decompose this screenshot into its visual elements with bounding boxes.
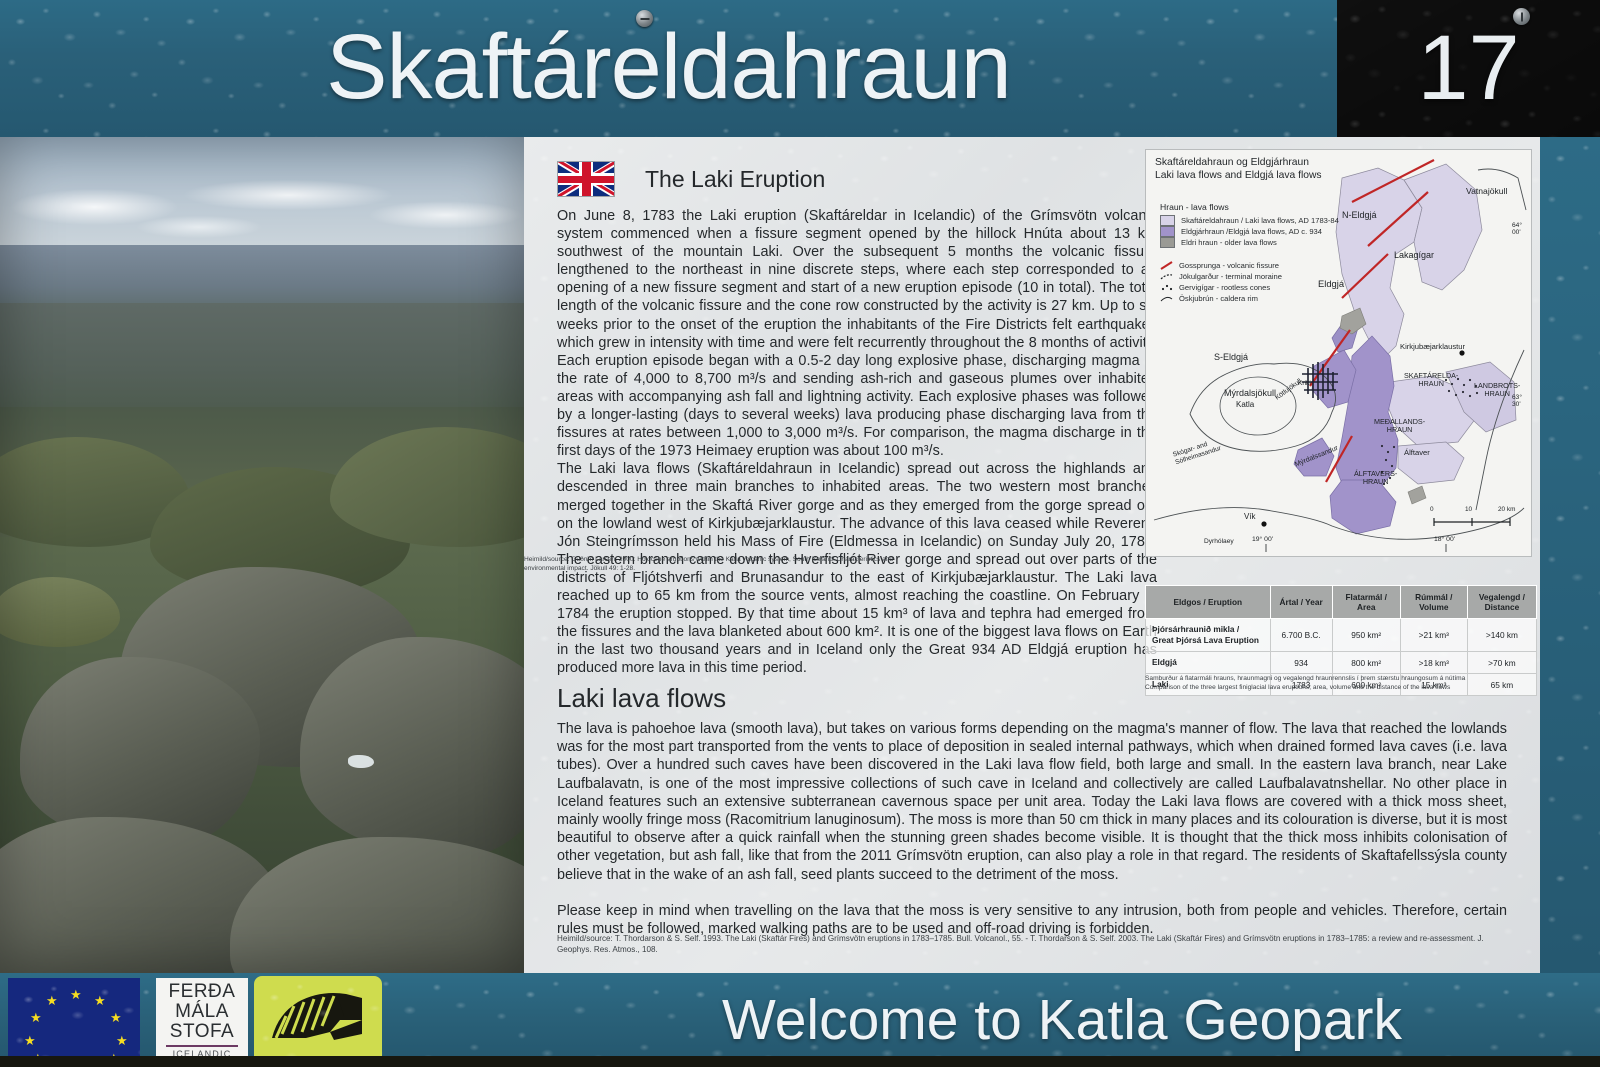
legend-item-rootless-cones: Gervigígar - rootless cones: [1160, 282, 1282, 293]
screw-icon: [636, 10, 653, 27]
map-label-vatnajokull: Vatnajökull: [1466, 186, 1507, 196]
legend-swatch-icon: [1160, 215, 1175, 226]
sign-number-plate: 17: [1337, 0, 1600, 137]
cell-year: 934: [1270, 652, 1332, 674]
map-label-skaftareldahraun: SKAFTÁRELDA-HRAUN: [1404, 372, 1458, 389]
legend-item-fissure: Gossprunga - volcanic fissure: [1160, 260, 1282, 271]
table-row: Þjórsárhraunið mikla / Great Þjórsá Lava…: [1146, 619, 1537, 652]
legend-item-eldgja: Eldgjárhraun /Eldgjá lava flows, AD c. 9…: [1160, 226, 1339, 237]
page-title: Skaftáreldahraun: [0, 8, 1337, 126]
legend-item-older: Eldri hraun - older lava flows: [1160, 237, 1339, 248]
map-coord-63n: 63°30': [1512, 394, 1522, 409]
map-label-kirkjubaejarklaustur: Kirkjubæjarklaustur: [1400, 342, 1465, 351]
lava-flows-article: The lava is pahoehoe lava (smooth lava),…: [557, 720, 1507, 938]
map-scale-20: 20 km: [1498, 506, 1515, 513]
map-symbol-legend: Gossprunga - volcanic fissure Jökulgarðu…: [1160, 260, 1282, 304]
th-area: Flatarmál /Area: [1332, 586, 1400, 619]
legend-heading: Hraun - lava flows: [1160, 202, 1339, 213]
article-paragraph: On June 8, 1783 the Laki eruption (Skaft…: [557, 207, 1157, 460]
ferda-line-3: STOFA: [170, 1022, 234, 1042]
ferda-line-2: MÁLA: [175, 1002, 229, 1022]
map-label-katla: Katla: [1236, 400, 1254, 409]
sign-bottom-edge: [0, 1056, 1600, 1067]
map-label-dyrholaey: Dyrhólaey: [1204, 538, 1234, 545]
cell-volume: >21 km³: [1400, 619, 1467, 652]
lava-flows-heading: Laki lava flows: [557, 683, 726, 714]
article-source-note: Heimild/source: T. Thordarson & S. Self.…: [557, 934, 1507, 955]
sign-number: 17: [1337, 0, 1600, 137]
cell-eruption: Þjórsárhraunið mikla / Great Þjórsá Lava…: [1146, 619, 1271, 652]
map-coord-64n: 64°00': [1512, 222, 1522, 237]
table-header-row: Eldgos / Eruption Ártal / Year Flatarmál…: [1146, 586, 1537, 619]
map-label-eldgja: Eldgjá: [1318, 278, 1344, 289]
map-source-note: Heimild/source: Guðrún Larsen. 2000: Hol…: [524, 556, 916, 573]
uk-flag-icon: [557, 161, 615, 197]
ferda-divider: [166, 1045, 238, 1047]
map-scale-10: 10: [1465, 506, 1472, 513]
fissure-line-icon: [1160, 261, 1173, 270]
map-label-s-eldgja: S-Eldgjá: [1214, 352, 1248, 362]
eu-flag-logo: ★ ★ ★ ★ ★ ★ ★ ★ ★ ★: [8, 978, 140, 1062]
th-year: Ártal / Year: [1270, 586, 1332, 619]
map-scale-0: 0: [1430, 506, 1434, 513]
table-row: Eldgjá 934 800 km² >18 km³ >70 km: [1146, 652, 1537, 674]
th-volume: Rúmmál /Volume: [1400, 586, 1467, 619]
th-distance: Vegalengd /Distance: [1467, 586, 1536, 619]
information-board: The Laki Eruption On June 8, 1783 the La…: [524, 137, 1540, 973]
table-caption: Samburður á flatarmáli hrauns, hraunmagn…: [1145, 675, 1537, 693]
cell-area: 950 km²: [1332, 619, 1400, 652]
lava-paragraph: The lava is pahoehoe lava (smooth lava),…: [557, 720, 1507, 884]
cell-area: 800 km²: [1332, 652, 1400, 674]
interpretive-sign: Skaftáreldahraun 17: [0, 0, 1600, 1067]
map-label-myrdalsjokull: Mýrdalsjökull: [1224, 388, 1276, 398]
map-coord-18w: 18° 00': [1434, 536, 1455, 543]
landscape-photo: [0, 137, 524, 973]
section-title: The Laki Eruption: [645, 166, 825, 193]
rootless-cones-icon: [1160, 283, 1173, 292]
cell-eruption: Eldgjá: [1146, 652, 1271, 674]
ferda-line-1: FERÐA: [169, 982, 236, 1002]
legend-item-laki: Skaftáreldahraun / Laki lava flows, AD 1…: [1160, 215, 1339, 226]
moraine-line-icon: [1160, 272, 1173, 281]
map-label-alftavershraun: ÁLFTAVERS-HRAUN: [1354, 470, 1397, 487]
map-legend: Hraun - lava flows Skaftáreldahraun / La…: [1160, 202, 1339, 248]
lava-paragraph: Please keep in mind when travelling on t…: [557, 902, 1507, 938]
cell-year: 6.700 B.C.: [1270, 619, 1332, 652]
map-label-vik: Vík: [1244, 512, 1256, 521]
water-drops-texture: [1540, 137, 1600, 973]
cell-volume: >18 km³: [1400, 652, 1467, 674]
ferdamalastofa-logo: FERÐA MÁLA STOFA ICELANDIC: [156, 978, 248, 1062]
map-figure: Skaftáreldahraun og Eldgjárhraun Laki la…: [1145, 149, 1532, 557]
map-label-alftaver: Álftaver: [1404, 448, 1430, 457]
map-label-lakagigar: Lakagígar: [1394, 250, 1434, 260]
laki-eruption-article: The Laki Eruption On June 8, 1783 the La…: [557, 161, 1157, 677]
map-label-n-eldgja: N-Eldgjá: [1342, 210, 1377, 220]
table-caption-en: Comparison of the three largest finiglac…: [1145, 684, 1537, 693]
board-right-edge: [1540, 137, 1600, 973]
footer-welcome-text: Welcome to Katla Geopark: [524, 973, 1600, 1067]
katla-geopark-logo: [254, 976, 382, 1064]
cell-distance: >70 km: [1467, 652, 1536, 674]
legend-item-moraine: Jökulgarður - terminal moraine: [1160, 271, 1282, 282]
map-title: Skaftáreldahraun og Eldgjárhraun Laki la…: [1155, 157, 1322, 182]
legend-swatch-icon: [1160, 226, 1175, 237]
map-title-en: Laki lava flows and Eldgjá lava flows: [1155, 170, 1322, 183]
cell-distance: >140 km: [1467, 619, 1536, 652]
table-caption-is: Samburður á flatarmáli hrauns, hraunmagn…: [1145, 675, 1537, 684]
legend-swatch-icon: [1160, 237, 1175, 248]
map-title-is: Skaftáreldahraun og Eldgjárhraun: [1155, 157, 1322, 170]
map-label-medallandshraun: MEÐALLANDS-HRAUN: [1374, 418, 1425, 435]
th-eruption: Eldgos / Eruption: [1146, 586, 1271, 619]
legend-item-caldera-rim: Öskjubrún - caldera rim: [1160, 293, 1282, 304]
map-coord-19w: 19° 00': [1252, 536, 1273, 543]
caldera-rim-line-icon: [1160, 294, 1173, 303]
screw-icon: [1513, 8, 1530, 25]
